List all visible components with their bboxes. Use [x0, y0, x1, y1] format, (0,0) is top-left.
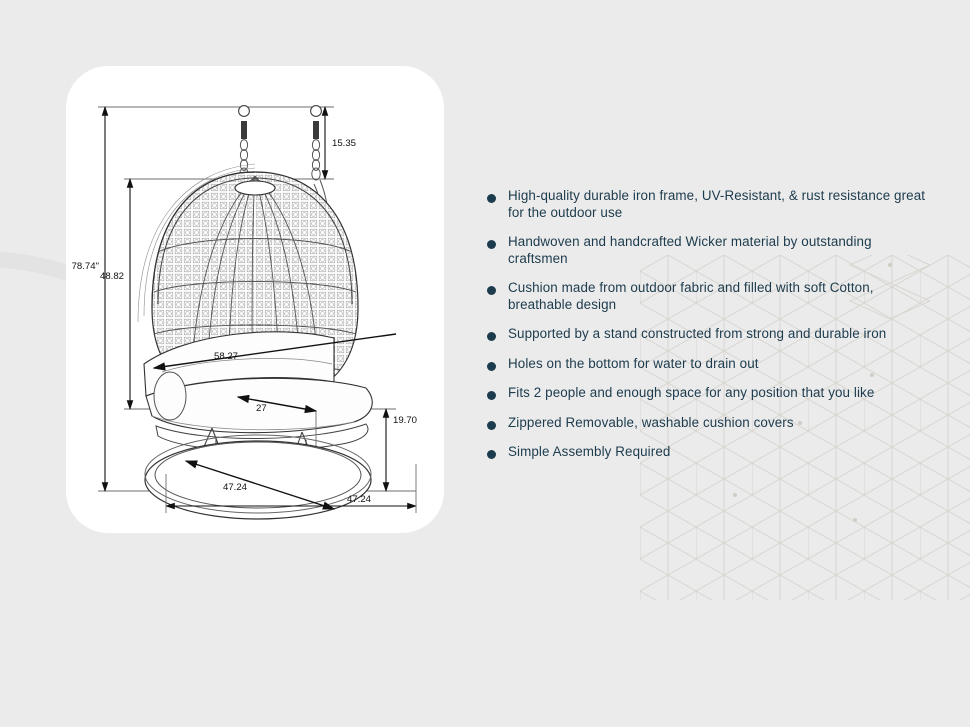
bullet-icon: [487, 286, 496, 295]
dimension-label-base-clearance: 19.70: [393, 415, 417, 426]
list-item: High-quality durable iron frame, UV-Resi…: [487, 188, 927, 221]
list-item: Cushion made from outdoor fabric and fil…: [487, 280, 927, 313]
dimension-label-chair-height: 48.82: [100, 271, 124, 282]
chair-dimension-drawing: 78.74" 48.82 15.35 19.70: [66, 66, 444, 533]
dimension-label-base-width: 47.24: [347, 494, 372, 505]
infographic-root: 78.74" 48.82 15.35 19.70: [0, 0, 970, 600]
list-item: Zippered Removable, washable cushion cov…: [487, 415, 927, 432]
list-item: Simple Assembly Required: [487, 444, 927, 461]
bullet-icon: [487, 421, 496, 430]
dimension-label-seat-depth: 27: [256, 403, 267, 414]
hanger-hardware: [239, 106, 322, 180]
feature-text: Handwoven and handcrafted Wicker materia…: [508, 234, 927, 267]
list-item: Handwoven and handcrafted Wicker materia…: [487, 234, 927, 267]
feature-text: Cushion made from outdoor fabric and fil…: [508, 280, 927, 313]
feature-text: Supported by a stand constructed from st…: [508, 326, 886, 343]
bullet-icon: [487, 362, 496, 371]
product-diagram-card: 78.74" 48.82 15.35 19.70: [66, 66, 444, 533]
dimension-hanging-drop: 15.35: [325, 107, 356, 179]
feature-text: Simple Assembly Required: [508, 444, 670, 461]
feature-text: High-quality durable iron frame, UV-Resi…: [508, 188, 927, 221]
bullet-icon: [487, 450, 496, 459]
feature-text: Zippered Removable, washable cushion cov…: [508, 415, 794, 432]
feature-text: Holes on the bottom for water to drain o…: [508, 356, 759, 373]
bullet-icon: [487, 194, 496, 203]
dimension-label-base-diameter-diagonal: 47.24: [223, 482, 248, 493]
dimension-label-backrest-width: 58.27: [214, 351, 238, 362]
dimension-base-clearance: 19.70: [386, 409, 417, 491]
dimension-label-hanging-drop: 15.35: [332, 138, 356, 149]
list-item: Fits 2 people and enough space for any p…: [487, 385, 927, 402]
bullet-icon: [487, 240, 496, 249]
bullet-icon: [487, 332, 496, 341]
dimension-overall-height: 78.74": [72, 107, 105, 491]
dimension-label-overall-height: 78.74": [72, 261, 99, 272]
list-item: Holes on the bottom for water to drain o…: [487, 356, 927, 373]
feature-text: Fits 2 people and enough space for any p…: [508, 385, 874, 402]
list-item: Supported by a stand constructed from st…: [487, 326, 927, 343]
feature-list: High-quality durable iron frame, UV-Resi…: [487, 188, 927, 461]
bullet-icon: [487, 391, 496, 400]
